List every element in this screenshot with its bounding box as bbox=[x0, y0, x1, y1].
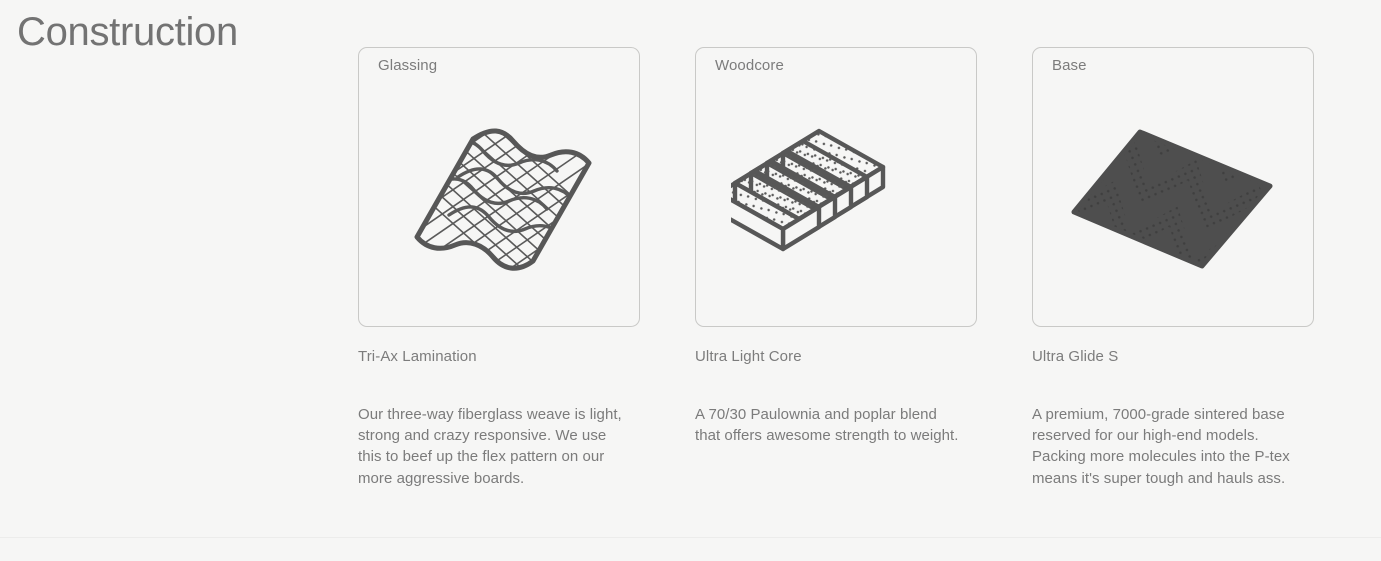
item-description-glassing: Our three-way fiberglass weave is light,… bbox=[358, 404, 622, 489]
wood-core-strips-icon bbox=[696, 74, 976, 324]
construction-item-woodcore: Woodcore bbox=[695, 47, 979, 489]
item-description-base: A premium, 7000-grade sintered base rese… bbox=[1032, 404, 1296, 489]
sintered-base-zigzag-icon bbox=[1033, 74, 1313, 324]
card-label-base: Base bbox=[1052, 57, 1087, 74]
bottom-divider bbox=[0, 537, 1381, 538]
card-label-glassing: Glassing bbox=[378, 57, 437, 74]
card-base[interactable]: Base bbox=[1032, 47, 1314, 327]
construction-item-base: Base bbox=[1032, 47, 1316, 489]
construction-item-glassing: Glassing bbox=[358, 47, 642, 489]
fiberglass-weave-sheet-icon bbox=[359, 74, 639, 324]
page-title: Construction bbox=[17, 8, 238, 56]
construction-cards: Glassing bbox=[358, 47, 1316, 489]
card-label-woodcore: Woodcore bbox=[715, 57, 784, 74]
card-woodcore[interactable]: Woodcore bbox=[695, 47, 977, 327]
item-name-base: Ultra Glide S bbox=[1032, 347, 1316, 367]
item-description-woodcore: A 70/30 Paulownia and poplar blend that … bbox=[695, 404, 959, 446]
item-name-woodcore: Ultra Light Core bbox=[695, 347, 979, 367]
card-glassing[interactable]: Glassing bbox=[358, 47, 640, 327]
item-name-glassing: Tri-Ax Lamination bbox=[358, 347, 642, 367]
